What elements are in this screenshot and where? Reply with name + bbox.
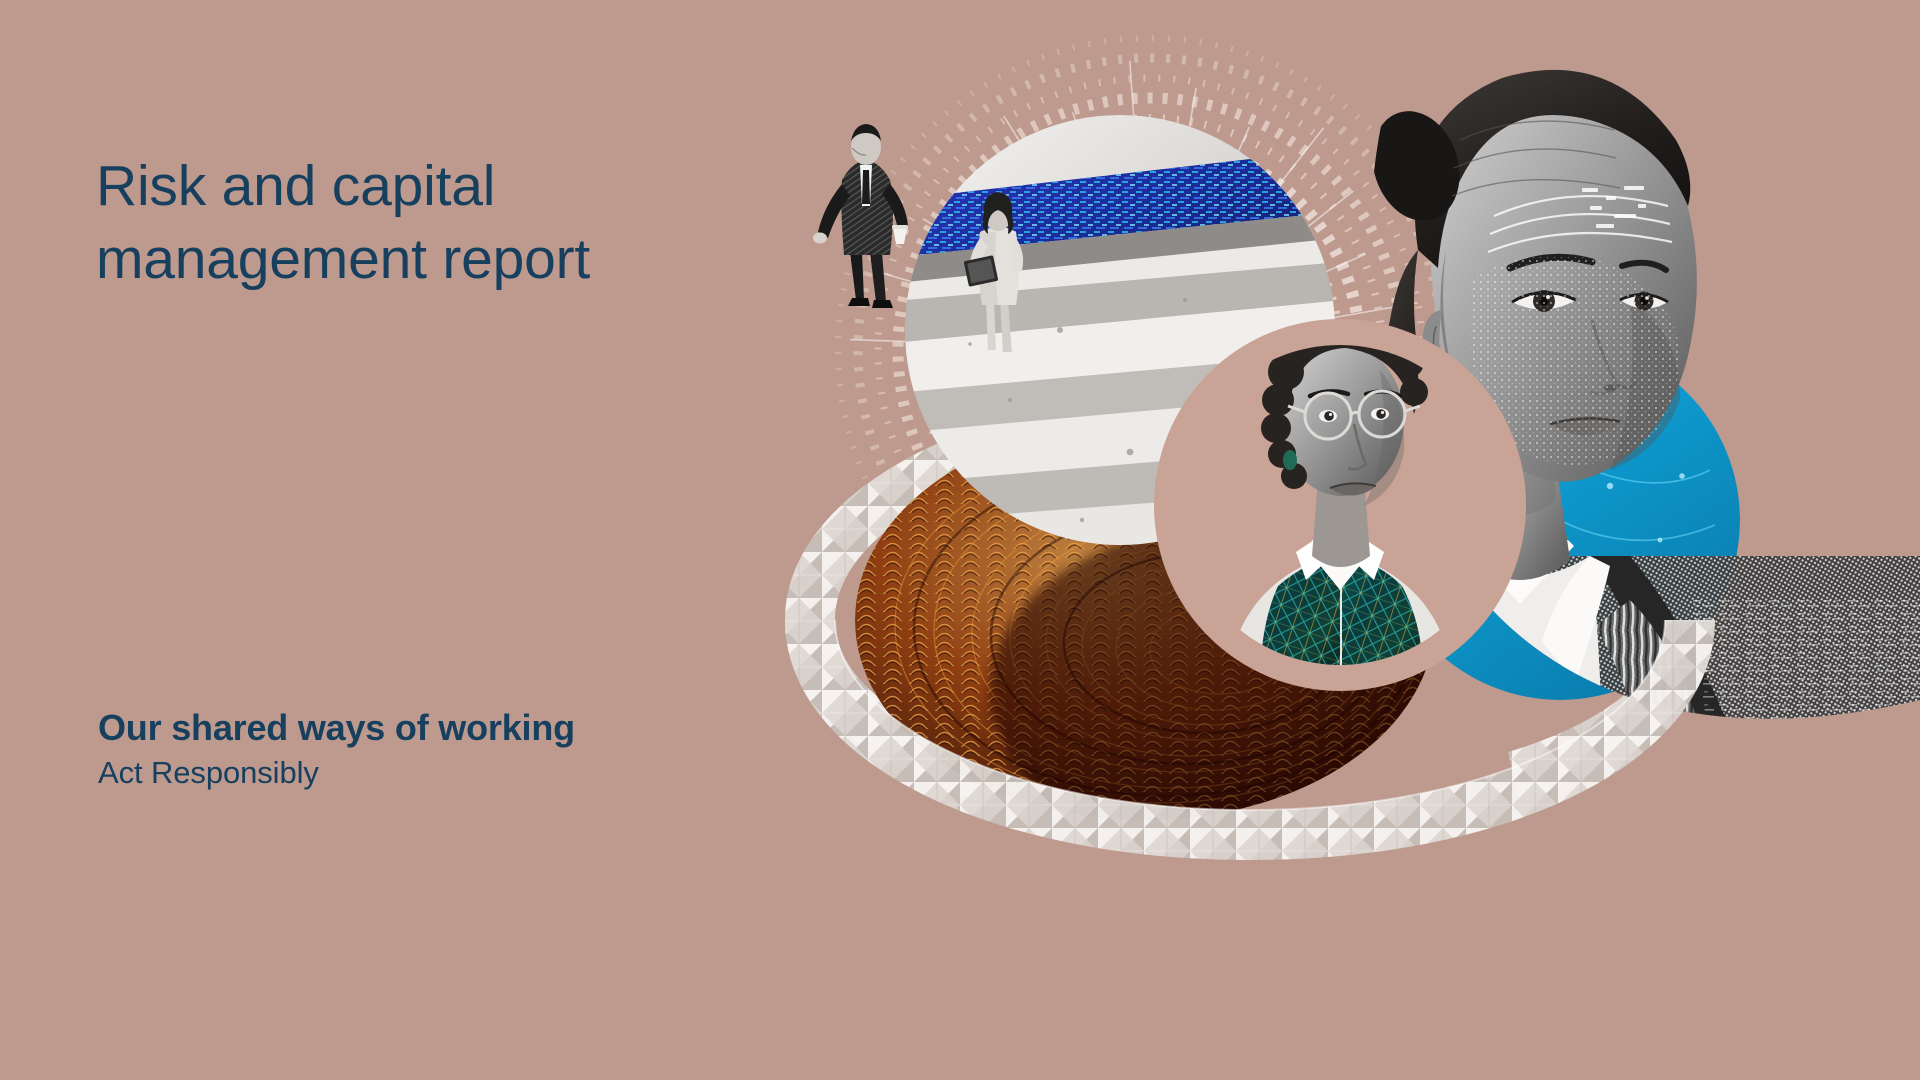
abstract-business-collage (730, 0, 1920, 1080)
page-title-line-2: management report (96, 223, 856, 296)
tagline-heading: Our shared ways of working (98, 705, 858, 751)
report-cover: Risk and capital management report Our s… (0, 0, 1920, 1080)
page-title: Risk and capital management report (96, 150, 856, 296)
tagline: Our shared ways of working Act Responsib… (98, 705, 858, 795)
page-title-line-1: Risk and capital (96, 150, 856, 223)
tagline-subheading: Act Responsibly (98, 751, 858, 795)
